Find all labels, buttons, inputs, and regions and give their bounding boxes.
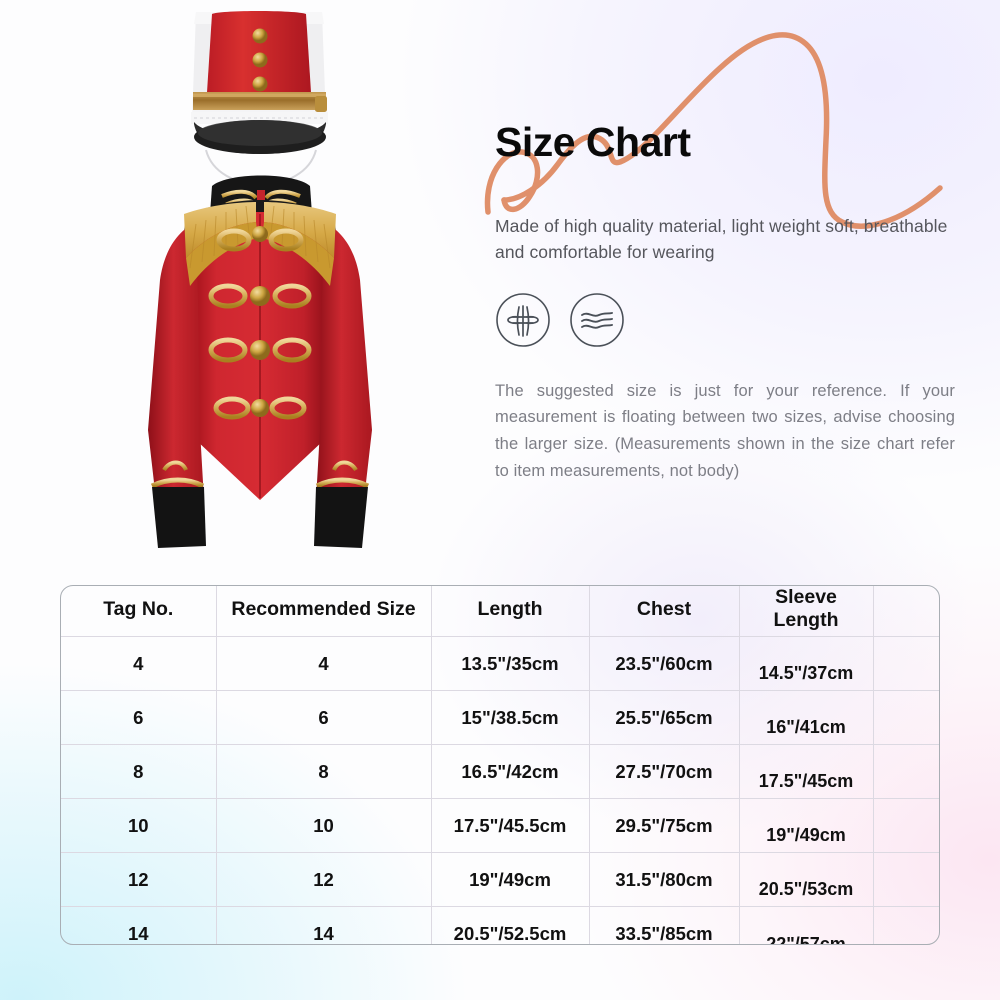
sizing-disclaimer: The suggested size is just for your refe… <box>495 378 955 485</box>
page-title: Size Chart <box>495 120 955 165</box>
cell-sleeve-length: 17.5"/45cm <box>739 745 873 799</box>
cell-tag-no: 14 <box>61 907 216 946</box>
cell-recommended-size: 10 <box>216 799 431 853</box>
cell-sleeve-length: 14.5"/37cm <box>739 637 873 691</box>
info-column: Size Chart Made of high quality material… <box>495 120 955 484</box>
cell-length: 17.5"/45.5cm <box>431 799 589 853</box>
shako-hat <box>191 11 328 185</box>
cell-recommended-size: 12 <box>216 853 431 907</box>
column-header-length: Length <box>431 586 589 637</box>
table-row: 101017.5"/45.5cm29.5"/75cm19"/49cm <box>61 799 940 853</box>
cell-chest: 33.5"/85cm <box>589 907 739 946</box>
size-chart-table: Tag No. Recommended Size Length Chest Sl… <box>61 586 940 945</box>
cell-recommended-size: 6 <box>216 691 431 745</box>
cell-length: 13.5"/35cm <box>431 637 589 691</box>
soft-texture-icon <box>569 292 625 348</box>
column-header-chest: Chest <box>589 586 739 637</box>
cell-recommended-size: 4 <box>216 637 431 691</box>
cell-length: 15"/38.5cm <box>431 691 589 745</box>
cell-recommended-size: 14 <box>216 907 431 946</box>
cell-recommended-size: 8 <box>216 745 431 799</box>
cell-chest: 31.5"/80cm <box>589 853 739 907</box>
table-header-row: Tag No. Recommended Size Length Chest Sl… <box>61 586 940 637</box>
cell-spacer <box>873 691 940 745</box>
column-header-recommended-size: Recommended Size <box>216 586 431 637</box>
table-row: 121219"/49cm31.5"/80cm20.5"/53cm <box>61 853 940 907</box>
product-image <box>60 0 460 575</box>
product-tagline: Made of high quality material, light wei… <box>495 213 955 266</box>
cell-length: 16.5"/42cm <box>431 745 589 799</box>
cell-chest: 29.5"/75cm <box>589 799 739 853</box>
cell-spacer <box>873 799 940 853</box>
table-row: 8816.5"/42cm27.5"/70cm17.5"/45cm <box>61 745 940 799</box>
cell-tag-no: 6 <box>61 691 216 745</box>
breathable-fabric-icon <box>495 292 551 348</box>
table-row: 141420.5"/52.5cm33.5"/85cm22"/57cm <box>61 907 940 946</box>
column-header-spacer <box>873 586 940 637</box>
cell-spacer <box>873 853 940 907</box>
column-header-sleeve-length: Sleeve Length <box>739 586 873 637</box>
cell-chest: 25.5"/65cm <box>589 691 739 745</box>
cell-spacer <box>873 907 940 946</box>
table-row: 6615"/38.5cm25.5"/65cm16"/41cm <box>61 691 940 745</box>
cell-chest: 23.5"/60cm <box>589 637 739 691</box>
size-chart-table-container: Tag No. Recommended Size Length Chest Sl… <box>60 585 940 945</box>
cell-sleeve-length: 22"/57cm <box>739 907 873 946</box>
cell-tag-no: 4 <box>61 637 216 691</box>
cell-spacer <box>873 745 940 799</box>
cell-length: 20.5"/52.5cm <box>431 907 589 946</box>
cell-tag-no: 10 <box>61 799 216 853</box>
soldier-jacket <box>148 176 372 549</box>
table-header: Tag No. Recommended Size Length Chest Sl… <box>61 586 940 637</box>
cell-sleeve-length: 20.5"/53cm <box>739 853 873 907</box>
cell-tag-no: 8 <box>61 745 216 799</box>
cell-sleeve-length: 19"/49cm <box>739 799 873 853</box>
table-body: 4413.5"/35cm23.5"/60cm14.5"/37cm6615"/38… <box>61 637 940 946</box>
cell-chest: 27.5"/70cm <box>589 745 739 799</box>
column-header-tag-no: Tag No. <box>61 586 216 637</box>
cell-spacer <box>873 637 940 691</box>
table-row: 4413.5"/35cm23.5"/60cm14.5"/37cm <box>61 637 940 691</box>
cell-sleeve-length: 16"/41cm <box>739 691 873 745</box>
cell-length: 19"/49cm <box>431 853 589 907</box>
care-icon-group <box>495 292 955 348</box>
cell-tag-no: 12 <box>61 853 216 907</box>
